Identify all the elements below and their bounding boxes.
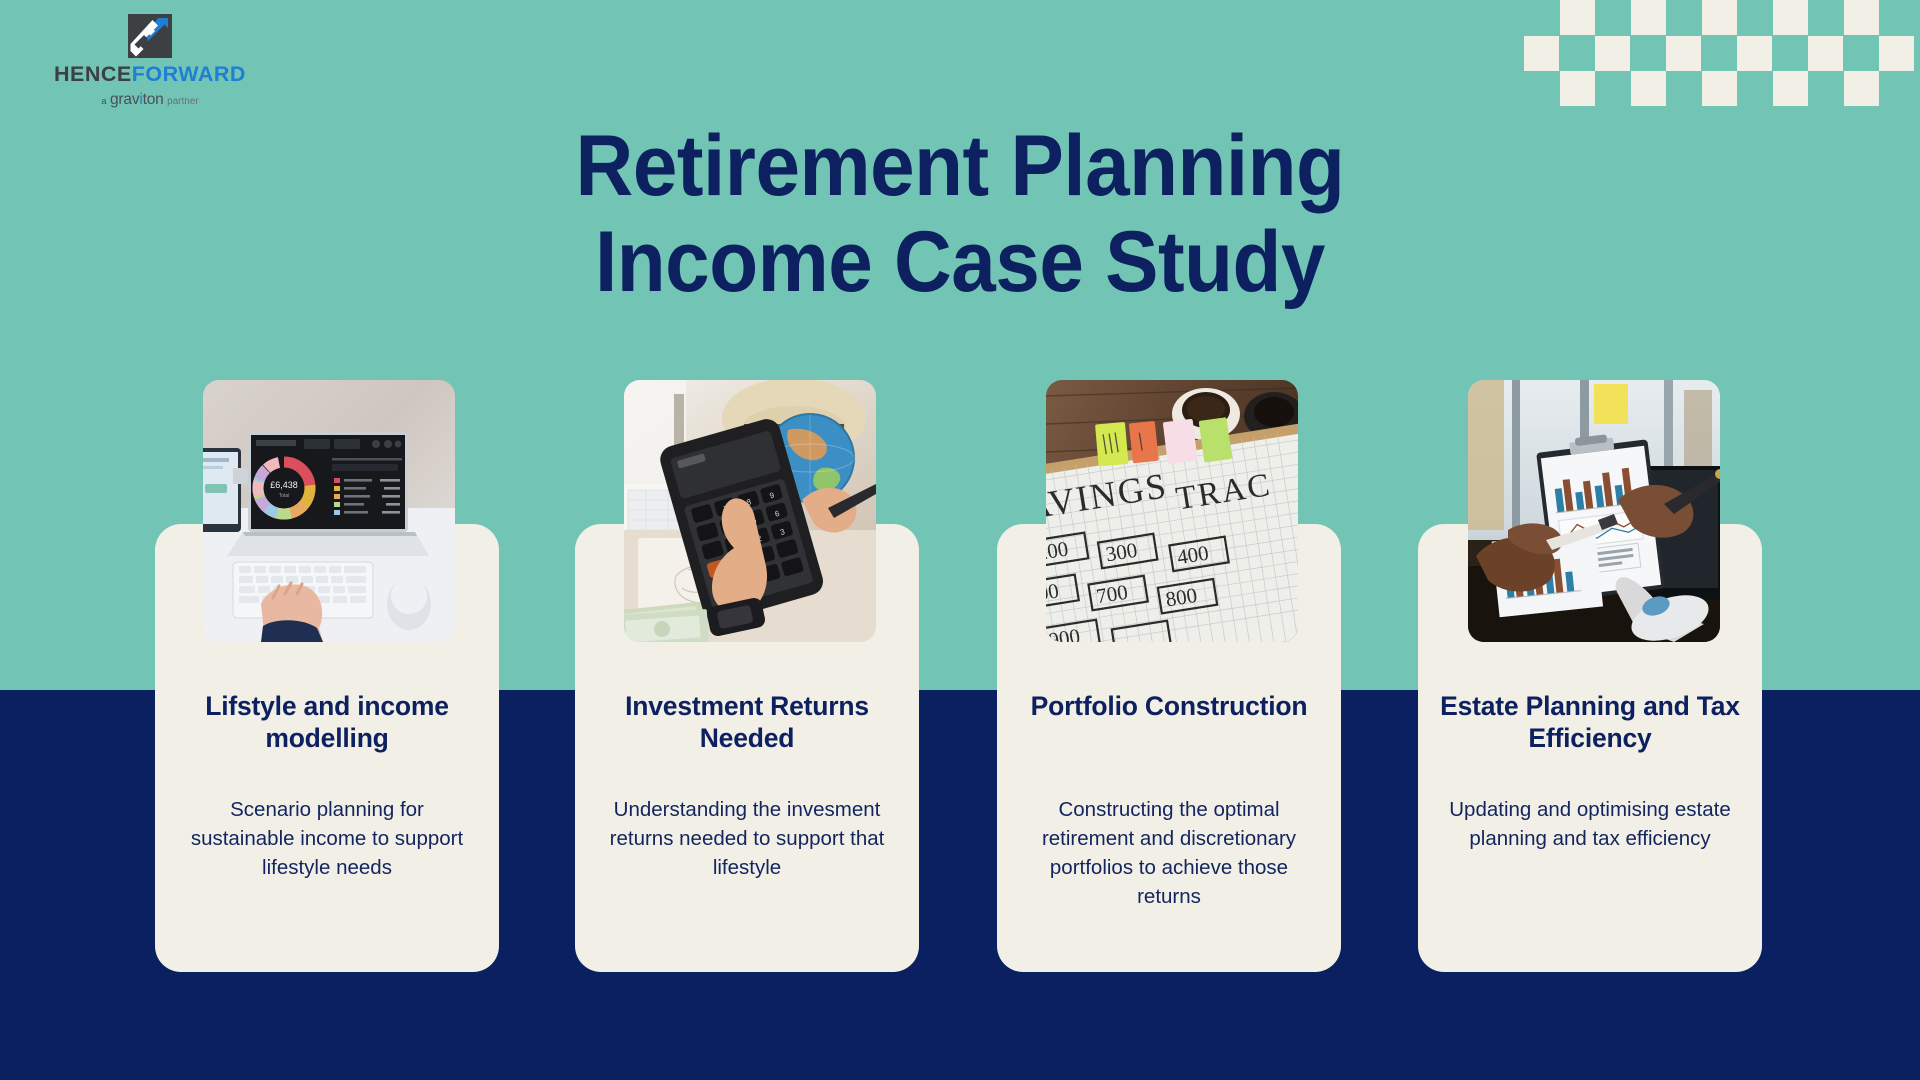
card-image-estate-planning-tax-efficiency [1468, 380, 1720, 642]
card-body: Understanding the invesment returns need… [601, 795, 893, 882]
card-body: Scenario planning for sustainable income… [181, 795, 473, 882]
card-body: Constructing the optimal retirement and … [1023, 795, 1315, 911]
card-title: Portfolio Construction [1009, 690, 1329, 722]
slide-canvas: HENCEFORWARD a graviton partner Retireme… [0, 0, 1920, 1080]
card-body: Updating and optimising estate planning … [1444, 795, 1736, 853]
card-title: Estate Planning and Tax Efficiency [1430, 690, 1750, 755]
card-image-investment-returns-needed: 789 456 123 0 [624, 380, 876, 642]
card-title: Investment Returns Needed [587, 690, 907, 755]
card-title: Lifstyle and income modelling [167, 690, 487, 755]
card-row: Lifstyle and income modelling Scenario p… [0, 0, 1920, 1080]
svg-text:Total: Total [279, 493, 290, 499]
svg-text:800: 800 [1164, 583, 1199, 612]
svg-text:400: 400 [1175, 541, 1210, 570]
card-image-lifestyle-income-modelling: £6,438 Total [203, 380, 455, 642]
card-image-portfolio-construction: SAVINGS TRAC 20 [1046, 380, 1298, 642]
svg-text:700: 700 [1095, 580, 1130, 609]
svg-text:300: 300 [1104, 538, 1139, 567]
svg-text:£6,438: £6,438 [270, 480, 298, 490]
